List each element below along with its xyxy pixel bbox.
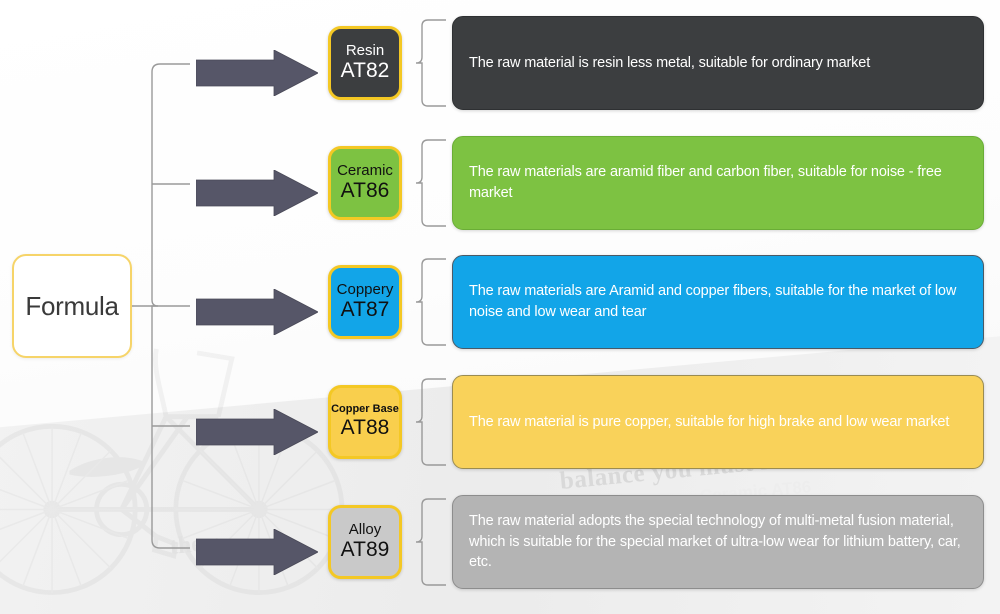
node-name: Resin (346, 43, 384, 59)
description-box: The raw material adopts the special tech… (452, 495, 984, 589)
branch-row: Alloy AT89 The raw material adopts the s… (0, 493, 1000, 613)
node-code: AT86 (341, 179, 390, 203)
description-text: The raw material adopts the special tech… (469, 511, 967, 573)
node-box-copper-base[interactable]: Copper Base AT88 (328, 385, 402, 459)
right-arrow-icon (196, 409, 318, 455)
node-box-alloy[interactable]: Alloy AT89 (328, 505, 402, 579)
node-code: AT89 (341, 538, 390, 562)
right-arrow-icon (196, 529, 318, 575)
branch-row: Ceramic AT86 The raw materials are arami… (0, 134, 1000, 254)
description-text: The raw material is resin less metal, su… (469, 53, 870, 74)
branch-row: Resin AT82 The raw material is resin les… (0, 14, 1000, 134)
description-box: The raw materials are aramid fiber and c… (452, 136, 984, 230)
node-name: Copper Base (331, 404, 399, 416)
node-name: Alloy (349, 522, 382, 538)
branch-row: Coppery AT87 The raw materials are Arami… (0, 253, 1000, 373)
node-code: AT87 (341, 298, 390, 322)
node-box-coppery[interactable]: Coppery AT87 (328, 265, 402, 339)
right-arrow-icon (196, 170, 318, 216)
right-arrow-icon (196, 50, 318, 96)
node-name: Ceramic (337, 163, 393, 179)
formula-diagram: Formula Resin AT82 The raw material is r… (0, 0, 1000, 614)
node-name: Coppery (337, 282, 394, 298)
description-box: The raw material is resin less metal, su… (452, 16, 984, 110)
node-code: AT82 (341, 59, 390, 83)
node-box-ceramic[interactable]: Ceramic AT86 (328, 146, 402, 220)
right-arrow-icon (196, 289, 318, 335)
branch-row: Copper Base AT88 The raw material is pur… (0, 373, 1000, 493)
description-text: The raw material is pure copper, suitabl… (469, 412, 949, 433)
description-text: The raw materials are aramid fiber and c… (469, 162, 967, 203)
description-text: The raw materials are Aramid and copper … (469, 281, 967, 322)
node-box-resin[interactable]: Resin AT82 (328, 26, 402, 100)
node-code: AT88 (341, 416, 390, 440)
description-box: The raw materials are Aramid and copper … (452, 255, 984, 349)
description-box: The raw material is pure copper, suitabl… (452, 375, 984, 469)
